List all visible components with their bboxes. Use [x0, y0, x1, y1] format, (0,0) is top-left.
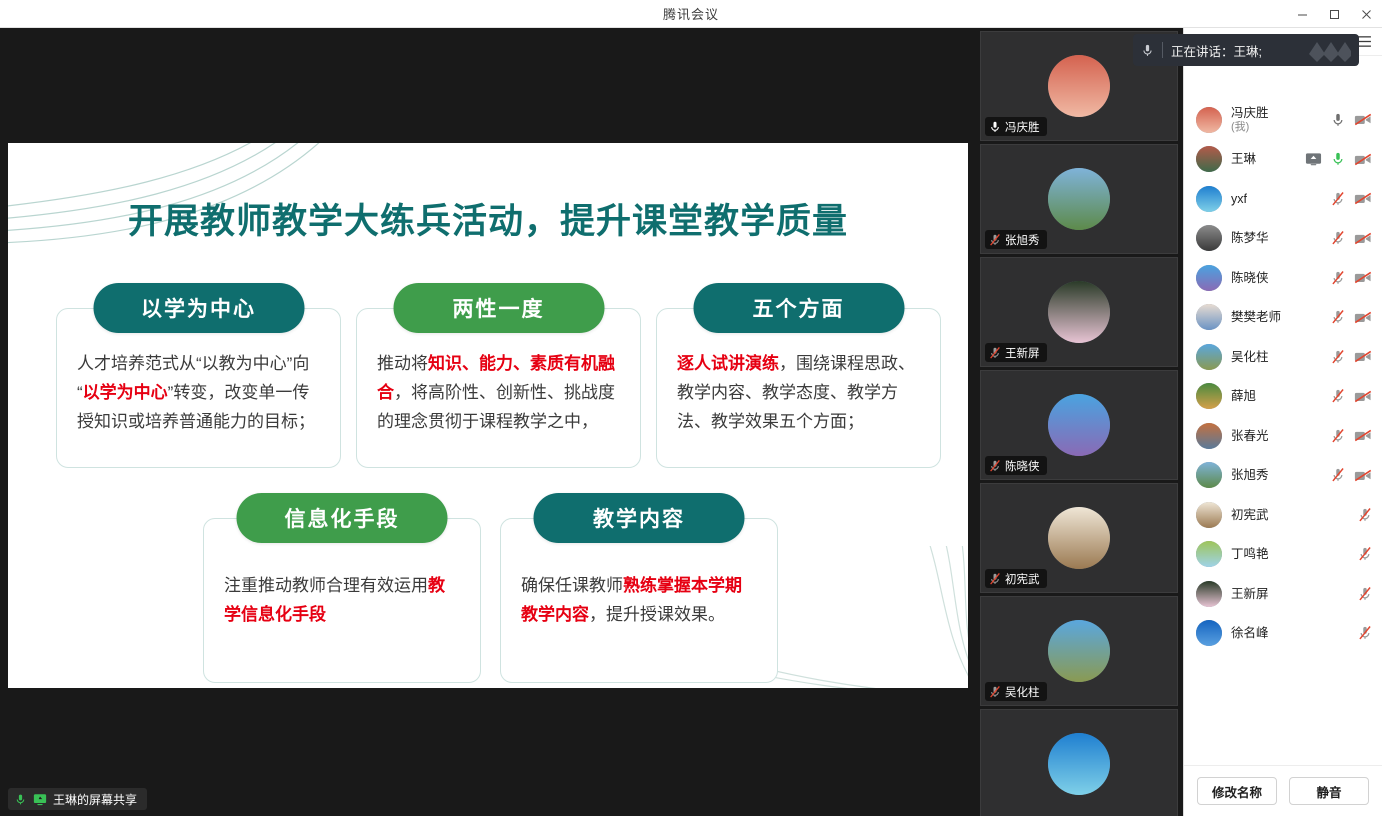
video-tile-name: 吴化柱 — [1005, 684, 1040, 700]
avatar-mountain-lake — [1196, 146, 1222, 172]
participants-list[interactable]: 冯庆胜(我)王琳yxf陈梦华陈晓侠樊樊老师吴化柱薛旭张春光张旭秀初宪武丁鸣艳王新… — [1184, 56, 1382, 765]
avatar-flag-person — [1048, 55, 1110, 117]
participants-panel: 成员(14) 冯庆胜(我)王琳yxf陈梦华陈晓侠樊樊老师吴化柱薛旭张春光张旭秀初… — [1183, 28, 1382, 816]
slide-card-3: 五个方面 逐人试讲演练，围绕课程思政、教学内容、教学态度、教学方法、教学效果五个… — [656, 308, 941, 468]
video-tile[interactable]: 初宪武 — [980, 483, 1178, 593]
participant-status-icons — [1305, 151, 1372, 167]
participant-row[interactable]: 樊樊老师 — [1184, 298, 1382, 338]
mic-on-icon — [14, 793, 27, 806]
participant-row[interactable]: 初宪武 — [1184, 495, 1382, 535]
mic-muted-icon[interactable] — [1331, 349, 1345, 365]
participant-name: 樊樊老师 — [1231, 310, 1322, 324]
avatar-sailboat-sea — [1048, 733, 1110, 795]
participant-status-icons — [1331, 467, 1372, 483]
mic-muted-icon[interactable] — [1331, 270, 1345, 286]
slide-card-2-title: 两性一度 — [393, 283, 604, 333]
presentation-slide: 开展教师教学大练兵活动，提升课堂教学质量 以学为中心 人才培养范式从“以教为中心… — [8, 143, 968, 688]
mic-on-icon — [1141, 43, 1154, 58]
mic-muted-icon[interactable] — [1331, 309, 1345, 325]
mic-muted-icon[interactable] — [1358, 625, 1372, 641]
participant-status-icons — [1331, 428, 1372, 444]
mic-muted-icon[interactable] — [1331, 230, 1345, 246]
rename-button[interactable]: 修改名称 — [1197, 777, 1277, 805]
participant-row[interactable]: 丁鸣艳 — [1184, 535, 1382, 575]
camera-off-icon[interactable] — [1354, 153, 1372, 166]
participant-row[interactable]: 吴化柱 — [1184, 337, 1382, 377]
avatar-flag-person — [1196, 107, 1222, 133]
mic-muted-icon[interactable] — [1358, 546, 1372, 562]
mic-muted-icon[interactable] — [1331, 467, 1345, 483]
camera-off-icon[interactable] — [1354, 192, 1372, 205]
participant-row[interactable]: 张旭秀 — [1184, 456, 1382, 496]
participant-name: 丁鸣艳 — [1231, 547, 1349, 561]
participant-status-icons — [1358, 507, 1372, 523]
avatar-grey-portrait — [1196, 225, 1222, 251]
participant-status-icons — [1331, 270, 1372, 286]
speaking-now-text: 正在讲话：王琳; — [1171, 41, 1301, 60]
participant-status-icons — [1331, 230, 1372, 246]
slide-title: 开展教师教学大练兵活动，提升课堂教学质量 — [8, 193, 968, 244]
mic-muted-icon[interactable] — [1358, 586, 1372, 602]
camera-off-icon[interactable] — [1354, 232, 1372, 245]
mic-on-icon[interactable] — [1331, 112, 1345, 128]
slide-card-5: 教学内容 确保任课教师熟练掌握本学期教学内容，提升授课效果。 — [500, 518, 778, 683]
screen-share-banner: 王琳的屏幕共享 — [8, 788, 147, 810]
participant-row[interactable]: 徐名峰 — [1184, 614, 1382, 654]
maximize-button[interactable] — [1318, 0, 1350, 28]
window-title-bar: 腾讯会议 — [0, 0, 1382, 28]
camera-off-icon[interactable] — [1354, 390, 1372, 403]
video-tile-label: 陈晓侠 — [985, 456, 1047, 475]
screen-share-icon — [1305, 152, 1322, 166]
avatar-lavender-field — [1048, 394, 1110, 456]
participant-status-icons — [1331, 388, 1372, 404]
participant-row[interactable]: 陈晓侠 — [1184, 258, 1382, 298]
camera-off-icon[interactable] — [1354, 469, 1372, 482]
mic-muted-icon — [989, 346, 1001, 360]
slide-card-1-title: 以学为中心 — [93, 283, 304, 333]
camera-off-icon[interactable] — [1354, 311, 1372, 324]
participant-name: 薛旭 — [1231, 389, 1322, 403]
avatar-sailboat-sea — [1196, 186, 1222, 212]
mic-muted-icon[interactable] — [1331, 428, 1345, 444]
avatar-blue-ocean — [1196, 620, 1222, 646]
avatar-lotus-flower — [1196, 581, 1222, 607]
video-tile-label: 吴化柱 — [985, 682, 1047, 701]
video-tile-label: 王新屏 — [985, 343, 1047, 362]
participant-name: 王琳 — [1231, 152, 1296, 166]
minimize-button[interactable] — [1286, 0, 1318, 28]
participant-status-icons — [1331, 112, 1372, 128]
slide-card-4-title: 信息化手段 — [237, 493, 448, 543]
participant-status-icons — [1358, 586, 1372, 602]
video-tile[interactable]: 王新屏 — [980, 257, 1178, 367]
video-tile-label: 初宪武 — [985, 569, 1047, 588]
camera-off-icon[interactable] — [1354, 271, 1372, 284]
mic-on-icon[interactable] — [1331, 151, 1345, 167]
shared-screen-stage[interactable]: 开展教师教学大练兵活动，提升课堂教学质量 以学为中心 人才培养范式从“以教为中心… — [0, 28, 975, 816]
avatar-wooden-plane — [1048, 507, 1110, 569]
participant-name: 王新屏 — [1231, 587, 1349, 601]
slide-card-1: 以学为中心 人才培养范式从“以教为中心”向“以学为中心”转变，改变单一传授知识或… — [56, 308, 341, 468]
mic-muted-icon[interactable] — [1331, 191, 1345, 207]
video-tile-label: 张旭秀 — [985, 230, 1047, 249]
participant-name: 吴化柱 — [1231, 350, 1322, 364]
mic-muted-icon[interactable] — [1331, 388, 1345, 404]
mic-muted-icon — [989, 233, 1001, 247]
avatar-girl-cartoon — [1196, 304, 1222, 330]
screen-share-banner-text: 王琳的屏幕共享 — [53, 791, 137, 808]
participant-name-suffix: (我) — [1231, 121, 1322, 134]
mic-on-icon — [989, 120, 1001, 134]
slide-card-5-title: 教学内容 — [534, 493, 745, 543]
mic-muted-icon — [989, 685, 1001, 699]
speaking-waveform-icon — [1309, 38, 1351, 62]
video-tile[interactable]: 张旭秀 — [980, 144, 1178, 254]
avatar-grassland — [1196, 344, 1222, 370]
avatar-lavender-field — [1196, 265, 1222, 291]
participant-name: 张春光 — [1231, 429, 1322, 443]
participant-status-icons — [1358, 625, 1372, 641]
avatar-wooden-plane — [1196, 502, 1222, 528]
avatar-lotus-flower — [1048, 281, 1110, 343]
participant-row[interactable]: 王琳 — [1184, 140, 1382, 180]
speaking-now-banner: 正在讲话：王琳; — [1133, 34, 1359, 66]
video-tile-name: 冯庆胜 — [1005, 119, 1040, 135]
slide-card-2: 两性一度 推动将知识、能力、素质有机融合，将高阶性、创新性、挑战度的理念贯彻于课… — [356, 308, 641, 468]
participant-name: 陈梦华 — [1231, 231, 1322, 245]
participant-status-icons — [1331, 349, 1372, 365]
video-tile-name: 王新屏 — [1005, 345, 1040, 361]
camera-off-icon[interactable] — [1354, 113, 1372, 126]
window-title: 腾讯会议 — [663, 4, 719, 23]
participant-name: 张旭秀 — [1231, 468, 1322, 482]
close-button[interactable] — [1350, 0, 1382, 28]
video-tile[interactable]: 陈晓侠 — [980, 370, 1178, 480]
participant-row[interactable]: 冯庆胜(我) — [1184, 100, 1382, 140]
camera-off-icon[interactable] — [1354, 429, 1372, 442]
participant-status-icons — [1331, 309, 1372, 325]
avatar-lake-scenery — [1196, 462, 1222, 488]
participant-row[interactable]: 王新屏 — [1184, 574, 1382, 614]
participant-name: 冯庆胜(我) — [1231, 106, 1322, 133]
participant-row[interactable]: 薛旭 — [1184, 377, 1382, 417]
participant-row[interactable]: 陈梦华 — [1184, 219, 1382, 259]
participant-name: 初宪武 — [1231, 508, 1349, 522]
video-tile-name: 初宪武 — [1005, 571, 1040, 587]
participant-name: 徐名峰 — [1231, 626, 1349, 640]
participants-panel-footer: 修改名称 静音 — [1184, 765, 1382, 816]
speaking-divider — [1162, 42, 1163, 58]
mic-muted-icon[interactable] — [1358, 507, 1372, 523]
window-controls — [1286, 0, 1382, 28]
mic-muted-icon — [989, 572, 1001, 586]
screen-share-icon — [33, 793, 47, 806]
participant-name: 陈晓侠 — [1231, 271, 1322, 285]
participant-name: yxf — [1231, 192, 1322, 206]
participant-row[interactable]: 张春光 — [1184, 416, 1382, 456]
avatar-grassland — [1048, 620, 1110, 682]
video-tile[interactable]: 吴化柱 — [980, 596, 1178, 706]
video-tile-name: 陈晓侠 — [1005, 458, 1040, 474]
camera-off-icon[interactable] — [1354, 350, 1372, 363]
avatar-lake-scenery — [1048, 168, 1110, 230]
participant-status-icons — [1331, 191, 1372, 207]
video-tile[interactable] — [980, 709, 1178, 816]
video-tile-label: 冯庆胜 — [985, 117, 1047, 136]
avatar-group-photo — [1196, 423, 1222, 449]
slide-card-3-title: 五个方面 — [693, 283, 904, 333]
video-tile-name: 张旭秀 — [1005, 232, 1040, 248]
mic-muted-icon — [989, 459, 1001, 473]
participant-row[interactable]: yxf — [1184, 179, 1382, 219]
avatar-green-leaves — [1196, 541, 1222, 567]
slide-card-4: 信息化手段 注重推动教师合理有效运用教学信息化手段 — [203, 518, 481, 683]
avatar-mountain-art — [1196, 383, 1222, 409]
mute-all-button[interactable]: 静音 — [1289, 777, 1369, 805]
participant-status-icons — [1358, 546, 1372, 562]
video-filmstrip[interactable]: 冯庆胜张旭秀王新屏陈晓侠初宪武吴化柱 — [975, 28, 1183, 816]
